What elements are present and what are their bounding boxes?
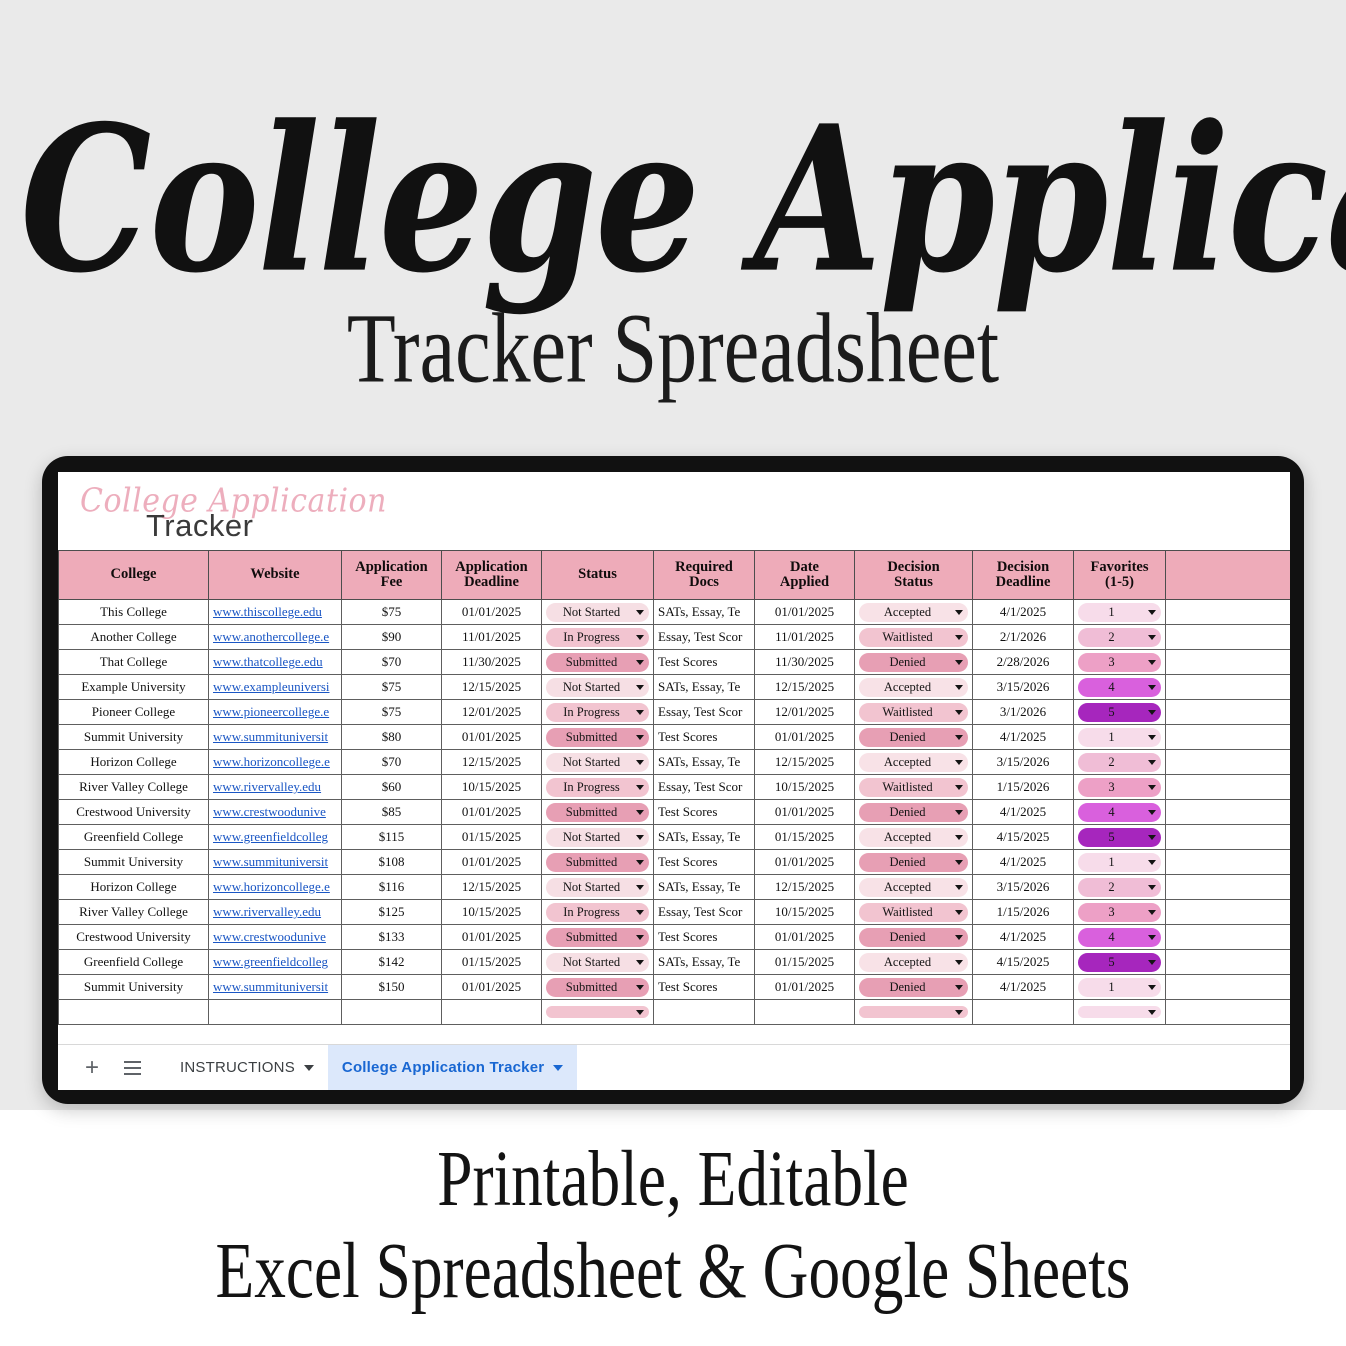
dropdown-pill[interactable]: 3: [1078, 903, 1161, 922]
cell-notes[interactable]: [1166, 1000, 1291, 1025]
dropdown-pill[interactable]: Submitted: [546, 928, 649, 947]
dropdown-pill[interactable]: Accepted: [859, 753, 968, 772]
cell-decision-status[interactable]: Accepted: [855, 750, 973, 775]
cell-application-fee[interactable]: $75: [342, 675, 442, 700]
cell-favorites[interactable]: 1: [1074, 600, 1166, 625]
dropdown-pill[interactable]: Not Started: [546, 603, 649, 622]
cell-application-fee[interactable]: $115: [342, 825, 442, 850]
chevron-down-icon[interactable]: [1148, 760, 1156, 765]
cell-required-docs[interactable]: Essay, Test Scor: [654, 775, 755, 800]
table-row[interactable]: Crestwood Universitywww.crestwoodunive$8…: [59, 800, 1291, 825]
column-header-website[interactable]: Website: [209, 551, 342, 600]
table-row[interactable]: Summit Universitywww.summituniversit$800…: [59, 725, 1291, 750]
cell-college[interactable]: Greenfield College: [59, 825, 209, 850]
cell-website-link[interactable]: www.summituniversit: [209, 725, 342, 750]
cell-favorites[interactable]: 4: [1074, 800, 1166, 825]
dropdown-pill[interactable]: Not Started: [546, 753, 649, 772]
dropdown-pill[interactable]: Accepted: [859, 678, 968, 697]
chevron-down-icon[interactable]: [636, 685, 644, 690]
dropdown-pill[interactable]: 1: [1078, 978, 1161, 997]
chevron-down-icon[interactable]: [636, 710, 644, 715]
cell-decision-deadline[interactable]: 4/1/2025: [973, 925, 1074, 950]
chevron-down-icon[interactable]: [636, 935, 644, 940]
cell-favorites[interactable]: 2: [1074, 875, 1166, 900]
cell-favorites[interactable]: [1074, 1000, 1166, 1025]
cell-application-fee[interactable]: $116: [342, 875, 442, 900]
column-header-decision-deadline[interactable]: DecisionDeadline: [973, 551, 1074, 600]
cell-date-applied[interactable]: 01/15/2025: [755, 950, 855, 975]
cell-application-deadline[interactable]: 11/01/2025: [442, 625, 542, 650]
cell-college[interactable]: Horizon College: [59, 750, 209, 775]
column-header-college[interactable]: College: [59, 551, 209, 600]
chevron-down-icon[interactable]: [955, 1010, 963, 1015]
cell-required-docs[interactable]: Test Scores: [654, 925, 755, 950]
chevron-down-icon[interactable]: [1148, 685, 1156, 690]
cell-notes[interactable]: Robust Int: [1166, 850, 1291, 875]
chevron-down-icon[interactable]: [1148, 710, 1156, 715]
cell-college[interactable]: River Valley College: [59, 900, 209, 925]
cell-favorites[interactable]: 1: [1074, 975, 1166, 1000]
cell-required-docs[interactable]: SATs, Essay, Te: [654, 675, 755, 700]
chevron-down-icon[interactable]: [1148, 610, 1156, 615]
chevron-down-icon[interactable]: [636, 610, 644, 615]
cell-required-docs[interactable]: SATs, Essay, Te: [654, 750, 755, 775]
dropdown-pill[interactable]: 5: [1078, 953, 1161, 972]
cell-favorites[interactable]: 5: [1074, 700, 1166, 725]
dropdown-pill[interactable]: [859, 1006, 968, 1018]
cell-date-applied[interactable]: [755, 1000, 855, 1025]
cell-required-docs[interactable]: Test Scores: [654, 650, 755, 675]
cell-application-deadline[interactable]: [442, 1000, 542, 1025]
cell-status[interactable]: Not Started: [542, 825, 654, 850]
cell-date-applied[interactable]: 10/15/2025: [755, 900, 855, 925]
cell-application-deadline[interactable]: 12/15/2025: [442, 875, 542, 900]
dropdown-pill[interactable]: Waitlisted: [859, 628, 968, 647]
table-row[interactable]: Crestwood Universitywww.crestwoodunive$1…: [59, 925, 1291, 950]
column-header-status[interactable]: Status: [542, 551, 654, 600]
cell-favorites[interactable]: 3: [1074, 775, 1166, 800]
chevron-down-icon[interactable]: [955, 860, 963, 865]
cell-status[interactable]: Submitted: [542, 725, 654, 750]
cell-application-deadline[interactable]: 01/15/2025: [442, 950, 542, 975]
cell-notes[interactable]: 24/7 L: [1166, 900, 1291, 925]
cell-website-link[interactable]: www.crestwoodunive: [209, 925, 342, 950]
dropdown-pill[interactable]: Denied: [859, 653, 968, 672]
chevron-down-icon[interactable]: [636, 910, 644, 915]
cell-decision-deadline[interactable]: 3/15/2026: [973, 875, 1074, 900]
chevron-down-icon[interactable]: [955, 610, 963, 615]
dropdown-pill[interactable]: Denied: [859, 853, 968, 872]
cell-notes[interactable]: Close: [1166, 675, 1291, 700]
cell-website-link[interactable]: www.greenfieldcolleg: [209, 950, 342, 975]
cell-decision-deadline[interactable]: 1/15/2026: [973, 900, 1074, 925]
cell-status[interactable]: Submitted: [542, 975, 654, 1000]
dropdown-pill[interactable]: In Progress: [546, 778, 649, 797]
chevron-down-icon[interactable]: [1148, 935, 1156, 940]
chevron-down-icon[interactable]: [636, 760, 644, 765]
dropdown-pill[interactable]: Denied: [859, 728, 968, 747]
chevron-down-icon[interactable]: [1148, 810, 1156, 815]
cell-date-applied[interactable]: 01/01/2025: [755, 600, 855, 625]
chevron-down-icon[interactable]: [636, 985, 644, 990]
cell-status[interactable]: Submitted: [542, 850, 654, 875]
cell-favorites[interactable]: 2: [1074, 750, 1166, 775]
cell-website-link[interactable]: www.horizoncollege.e: [209, 750, 342, 775]
cell-required-docs[interactable]: Essay, Test Scor: [654, 900, 755, 925]
chevron-down-icon[interactable]: [304, 1065, 314, 1071]
cell-favorites[interactable]: 2: [1074, 625, 1166, 650]
cell-application-fee[interactable]: $85: [342, 800, 442, 825]
sheet-tab-instructions[interactable]: INSTRUCTIONS: [166, 1045, 328, 1091]
table-row[interactable]: Summit Universitywww.summituniversit$108…: [59, 850, 1291, 875]
dropdown-pill[interactable]: 3: [1078, 653, 1161, 672]
cell-status[interactable]: Not Started: [542, 600, 654, 625]
table-row[interactable]: This Collegewww.thiscollege.edu$7501/01/…: [59, 600, 1291, 625]
chevron-down-icon[interactable]: [1148, 885, 1156, 890]
cell-application-deadline[interactable]: 01/01/2025: [442, 925, 542, 950]
cell-decision-status[interactable]: Waitlisted: [855, 775, 973, 800]
cell-college[interactable]: Crestwood University: [59, 925, 209, 950]
cell-notes[interactable]: Strong Eng: [1166, 700, 1291, 725]
cell-date-applied[interactable]: 12/15/2025: [755, 875, 855, 900]
cell-required-docs[interactable]: Test Scores: [654, 725, 755, 750]
dropdown-pill[interactable]: 5: [1078, 828, 1161, 847]
cell-decision-status[interactable]: Denied: [855, 850, 973, 875]
dropdown-pill[interactable]: Accepted: [859, 603, 968, 622]
table-row[interactable]: Greenfield Collegewww.greenfieldcolleg$1…: [59, 825, 1291, 850]
cell-date-applied[interactable]: 11/01/2025: [755, 625, 855, 650]
cell-college[interactable]: Summit University: [59, 850, 209, 875]
dropdown-pill[interactable]: Submitted: [546, 978, 649, 997]
dropdown-pill[interactable]: In Progress: [546, 903, 649, 922]
cell-decision-deadline[interactable]: 3/1/2026: [973, 700, 1074, 725]
cell-notes[interactable]: Proximi: [1166, 950, 1291, 975]
table-row[interactable]: That Collegewww.thatcollege.edu$7011/30/…: [59, 650, 1291, 675]
cell-status[interactable]: Not Started: [542, 875, 654, 900]
cell-favorites[interactable]: 3: [1074, 650, 1166, 675]
dropdown-pill[interactable]: Denied: [859, 803, 968, 822]
cell-notes[interactable]: Stron: [1166, 975, 1291, 1000]
chevron-down-icon[interactable]: [636, 810, 644, 815]
cell-required-docs[interactable]: Test Scores: [654, 850, 755, 875]
chevron-down-icon[interactable]: [553, 1065, 563, 1071]
chevron-down-icon[interactable]: [955, 710, 963, 715]
chevron-down-icon[interactable]: [636, 735, 644, 740]
dropdown-pill[interactable]: Denied: [859, 928, 968, 947]
cell-decision-status[interactable]: Denied: [855, 650, 973, 675]
cell-application-deadline[interactable]: 10/15/2025: [442, 900, 542, 925]
add-sheet-icon[interactable]: +: [72, 1048, 112, 1088]
dropdown-pill[interactable]: Not Started: [546, 878, 649, 897]
dropdown-pill[interactable]: 4: [1078, 928, 1161, 947]
cell-required-docs[interactable]: Test Scores: [654, 975, 755, 1000]
cell-decision-deadline[interactable]: 4/15/2025: [973, 950, 1074, 975]
all-sheets-hamburger-icon[interactable]: [112, 1048, 152, 1088]
cell-notes[interactable]: Vibran: [1166, 925, 1291, 950]
cell-website-link[interactable]: www.pioneercollege.e: [209, 700, 342, 725]
cell-application-fee[interactable]: $80: [342, 725, 442, 750]
cell-decision-status[interactable]: Waitlisted: [855, 900, 973, 925]
dropdown-pill[interactable]: 2: [1078, 628, 1161, 647]
dropdown-pill[interactable]: Denied: [859, 978, 968, 997]
table-row[interactable]: River Valley Collegewww.rivervalley.edu$…: [59, 900, 1291, 925]
dropdown-pill[interactable]: Waitlisted: [859, 703, 968, 722]
cell-status[interactable]: In Progress: [542, 700, 654, 725]
cell-application-deadline[interactable]: 01/01/2025: [442, 850, 542, 875]
chevron-down-icon[interactable]: [1148, 985, 1156, 990]
cell-application-fee[interactable]: $70: [342, 650, 442, 675]
column-header-decision-status[interactable]: DecisionStatus: [855, 551, 973, 600]
chevron-down-icon[interactable]: [955, 735, 963, 740]
cell-application-deadline[interactable]: 01/01/2025: [442, 800, 542, 825]
chevron-down-icon[interactable]: [955, 810, 963, 815]
cell-application-fee[interactable]: $70: [342, 750, 442, 775]
cell-date-applied[interactable]: 12/15/2025: [755, 675, 855, 700]
cell-favorites[interactable]: 4: [1074, 675, 1166, 700]
cell-application-deadline[interactable]: 12/01/2025: [442, 700, 542, 725]
chevron-down-icon[interactable]: [1148, 785, 1156, 790]
dropdown-pill[interactable]: Submitted: [546, 803, 649, 822]
dropdown-pill[interactable]: [1078, 1006, 1161, 1018]
cell-decision-status[interactable]: Accepted: [855, 875, 973, 900]
cell-application-fee[interactable]: [342, 1000, 442, 1025]
cell-decision-status[interactable]: Denied: [855, 725, 973, 750]
cell-website-link[interactable]: www.thiscollege.edu: [209, 600, 342, 625]
cell-decision-deadline[interactable]: 4/1/2025: [973, 975, 1074, 1000]
chevron-down-icon[interactable]: [955, 760, 963, 765]
cell-decision-status[interactable]: Denied: [855, 925, 973, 950]
cell-required-docs[interactable]: Essay, Test Scor: [654, 625, 755, 650]
cell-application-deadline[interactable]: 01/01/2025: [442, 975, 542, 1000]
cell-application-deadline[interactable]: 12/15/2025: [442, 750, 542, 775]
column-header-favorites-1-5[interactable]: Favorites(1-5): [1074, 551, 1166, 600]
dropdown-pill[interactable]: [546, 1006, 649, 1018]
cell-status[interactable]: [542, 1000, 654, 1025]
cell-college[interactable]: Summit University: [59, 725, 209, 750]
column-header-application-deadline[interactable]: ApplicationDeadline: [442, 551, 542, 600]
cell-decision-status[interactable]: [855, 1000, 973, 1025]
cell-college[interactable]: Horizon College: [59, 875, 209, 900]
cell-website-link[interactable]: www.summituniversit: [209, 975, 342, 1000]
cell-date-applied[interactable]: 01/01/2025: [755, 925, 855, 950]
cell-decision-status[interactable]: Accepted: [855, 950, 973, 975]
cell-college[interactable]: Crestwood University: [59, 800, 209, 825]
cell-website-link[interactable]: www.exampleuniversi: [209, 675, 342, 700]
cell-decision-deadline[interactable]: [973, 1000, 1074, 1025]
chevron-down-icon[interactable]: [955, 835, 963, 840]
chevron-down-icon[interactable]: [955, 685, 963, 690]
cell-favorites[interactable]: 3: [1074, 900, 1166, 925]
cell-college[interactable]: Pioneer College: [59, 700, 209, 725]
dropdown-pill[interactable]: Submitted: [546, 853, 649, 872]
cell-notes[interactable]: Indoor Po: [1166, 625, 1291, 650]
cell-website-link[interactable]: www.crestwoodunive: [209, 800, 342, 825]
cell-decision-deadline[interactable]: 4/1/2025: [973, 725, 1074, 750]
cell-college[interactable]: That College: [59, 650, 209, 675]
cell-date-applied[interactable]: 01/01/2025: [755, 975, 855, 1000]
chevron-down-icon[interactable]: [636, 785, 644, 790]
chevron-down-icon[interactable]: [1148, 960, 1156, 965]
cell-required-docs[interactable]: Essay, Test Scor: [654, 700, 755, 725]
cell-application-deadline[interactable]: 01/01/2025: [442, 600, 542, 625]
cell-notes[interactable]: Green C: [1166, 800, 1291, 825]
dropdown-pill[interactable]: Accepted: [859, 828, 968, 847]
cell-website-link[interactable]: www.rivervalley.edu: [209, 900, 342, 925]
cell-notes[interactable]: High Gradua: [1166, 825, 1291, 850]
cell-status[interactable]: Submitted: [542, 800, 654, 825]
chevron-down-icon[interactable]: [636, 635, 644, 640]
cell-decision-status[interactable]: Accepted: [855, 825, 973, 850]
cell-website-link[interactable]: www.anothercollege.e: [209, 625, 342, 650]
cell-status[interactable]: Not Started: [542, 675, 654, 700]
dropdown-pill[interactable]: Not Started: [546, 953, 649, 972]
dropdown-pill[interactable]: 4: [1078, 678, 1161, 697]
dropdown-pill[interactable]: Accepted: [859, 953, 968, 972]
cell-application-fee[interactable]: $142: [342, 950, 442, 975]
chevron-down-icon[interactable]: [636, 1010, 644, 1015]
cell-application-deadline[interactable]: 01/01/2025: [442, 725, 542, 750]
dropdown-pill[interactable]: 4: [1078, 803, 1161, 822]
chevron-down-icon[interactable]: [955, 660, 963, 665]
cell-decision-status[interactable]: Waitlisted: [855, 625, 973, 650]
chevron-down-icon[interactable]: [1148, 860, 1156, 865]
cell-college[interactable]: [59, 1000, 209, 1025]
cell-decision-deadline[interactable]: 4/15/2025: [973, 825, 1074, 850]
table-row[interactable]: Another Collegewww.anothercollege.e$9011…: [59, 625, 1291, 650]
chevron-down-icon[interactable]: [636, 860, 644, 865]
chevron-down-icon[interactable]: [955, 935, 963, 940]
dropdown-pill[interactable]: Submitted: [546, 728, 649, 747]
cell-notes[interactable]: Diverse: [1166, 725, 1291, 750]
chevron-down-icon[interactable]: [636, 885, 644, 890]
column-header-application-fee[interactable]: ApplicationFee: [342, 551, 442, 600]
cell-decision-deadline[interactable]: 4/1/2025: [973, 800, 1074, 825]
column-header-extra[interactable]: [1166, 551, 1291, 600]
cell-favorites[interactable]: 5: [1074, 950, 1166, 975]
cell-application-fee[interactable]: $150: [342, 975, 442, 1000]
cell-date-applied[interactable]: 11/30/2025: [755, 650, 855, 675]
cell-status[interactable]: In Progress: [542, 625, 654, 650]
cell-application-deadline[interactable]: 12/15/2025: [442, 675, 542, 700]
cell-application-fee[interactable]: $108: [342, 850, 442, 875]
cell-college[interactable]: This College: [59, 600, 209, 625]
cell-date-applied[interactable]: 01/01/2025: [755, 850, 855, 875]
chevron-down-icon[interactable]: [955, 960, 963, 965]
cell-favorites[interactable]: 4: [1074, 925, 1166, 950]
cell-required-docs[interactable]: SATs, Essay, Te: [654, 600, 755, 625]
cell-status[interactable]: Submitted: [542, 925, 654, 950]
cell-date-applied[interactable]: 01/01/2025: [755, 725, 855, 750]
cell-website-link[interactable]: www.horizoncollege.e: [209, 875, 342, 900]
cell-notes[interactable]: Stron: [1166, 750, 1291, 775]
dropdown-pill[interactable]: Not Started: [546, 678, 649, 697]
cell-website-link[interactable]: www.thatcollege.edu: [209, 650, 342, 675]
cell-required-docs[interactable]: Test Scores: [654, 800, 755, 825]
cell-application-fee[interactable]: $75: [342, 600, 442, 625]
cell-notes[interactable]: Study Abro: [1166, 775, 1291, 800]
cell-decision-deadline[interactable]: 3/15/2026: [973, 675, 1074, 700]
cell-website-link[interactable]: www.rivervalley.edu: [209, 775, 342, 800]
cell-application-deadline[interactable]: 11/30/2025: [442, 650, 542, 675]
cell-date-applied[interactable]: 01/01/2025: [755, 800, 855, 825]
column-header-required-docs[interactable]: RequiredDocs: [654, 551, 755, 600]
cell-decision-status[interactable]: Denied: [855, 975, 973, 1000]
chevron-down-icon[interactable]: [1148, 735, 1156, 740]
table-row[interactable]: Summit Universitywww.summituniversit$150…: [59, 975, 1291, 1000]
table-row[interactable]: Example Universitywww.exampleuniversi$75…: [59, 675, 1291, 700]
cell-website-link[interactable]: www.greenfieldcolleg: [209, 825, 342, 850]
cell-date-applied[interactable]: 12/01/2025: [755, 700, 855, 725]
cell-status[interactable]: Submitted: [542, 650, 654, 675]
dropdown-pill[interactable]: In Progress: [546, 703, 649, 722]
cell-college[interactable]: River Valley College: [59, 775, 209, 800]
cell-favorites[interactable]: 1: [1074, 850, 1166, 875]
cell-decision-deadline[interactable]: 1/15/2026: [973, 775, 1074, 800]
cell-application-fee[interactable]: $133: [342, 925, 442, 950]
cell-college[interactable]: Example University: [59, 675, 209, 700]
chevron-down-icon[interactable]: [636, 960, 644, 965]
cell-website-link[interactable]: [209, 1000, 342, 1025]
cell-application-fee[interactable]: $75: [342, 700, 442, 725]
column-header-date-applied[interactable]: DateApplied: [755, 551, 855, 600]
table-row[interactable]: Horizon Collegewww.horizoncollege.e$1161…: [59, 875, 1291, 900]
cell-favorites[interactable]: 5: [1074, 825, 1166, 850]
dropdown-pill[interactable]: Waitlisted: [859, 903, 968, 922]
dropdown-pill[interactable]: 2: [1078, 753, 1161, 772]
cell-decision-deadline[interactable]: 3/15/2026: [973, 750, 1074, 775]
cell-application-deadline[interactable]: 10/15/2025: [442, 775, 542, 800]
cell-application-deadline[interactable]: 01/15/2025: [442, 825, 542, 850]
chevron-down-icon[interactable]: [955, 785, 963, 790]
cell-application-fee[interactable]: $125: [342, 900, 442, 925]
spreadsheet-grid-wrap[interactable]: CollegeWebsiteApplicationFeeApplicationD…: [58, 550, 1290, 1044]
cell-decision-deadline[interactable]: 2/1/2026: [973, 625, 1074, 650]
chevron-down-icon[interactable]: [955, 910, 963, 915]
cell-notes[interactable]: Easy W: [1166, 650, 1291, 675]
chevron-down-icon[interactable]: [1148, 835, 1156, 840]
dropdown-pill[interactable]: Submitted: [546, 653, 649, 672]
dropdown-pill[interactable]: 5: [1078, 703, 1161, 722]
cell-decision-status[interactable]: Accepted: [855, 675, 973, 700]
cell-notes[interactable]: Tuit: [1166, 600, 1291, 625]
cell-notes[interactable]: Beautiful: [1166, 875, 1291, 900]
chevron-down-icon[interactable]: [1148, 910, 1156, 915]
cell-date-applied[interactable]: 12/15/2025: [755, 750, 855, 775]
cell-status[interactable]: Not Started: [542, 750, 654, 775]
cell-college[interactable]: Another College: [59, 625, 209, 650]
cell-required-docs[interactable]: SATs, Essay, Te: [654, 875, 755, 900]
cell-status[interactable]: Not Started: [542, 950, 654, 975]
cell-date-applied[interactable]: 01/15/2025: [755, 825, 855, 850]
dropdown-pill[interactable]: 2: [1078, 878, 1161, 897]
cell-website-link[interactable]: www.summituniversit: [209, 850, 342, 875]
cell-decision-status[interactable]: Waitlisted: [855, 700, 973, 725]
dropdown-pill[interactable]: 1: [1078, 853, 1161, 872]
cell-decision-deadline[interactable]: 4/1/2025: [973, 850, 1074, 875]
cell-application-fee[interactable]: $90: [342, 625, 442, 650]
chevron-down-icon[interactable]: [955, 635, 963, 640]
sheet-tab-college-application-tracker[interactable]: College Application Tracker: [328, 1045, 577, 1091]
dropdown-pill[interactable]: 1: [1078, 728, 1161, 747]
cell-required-docs[interactable]: [654, 1000, 755, 1025]
cell-decision-deadline[interactable]: 4/1/2025: [973, 600, 1074, 625]
dropdown-pill[interactable]: In Progress: [546, 628, 649, 647]
chevron-down-icon[interactable]: [955, 985, 963, 990]
chevron-down-icon[interactable]: [1148, 635, 1156, 640]
table-row[interactable]: Pioneer Collegewww.pioneercollege.e$7512…: [59, 700, 1291, 725]
cell-status[interactable]: In Progress: [542, 775, 654, 800]
cell-status[interactable]: In Progress: [542, 900, 654, 925]
